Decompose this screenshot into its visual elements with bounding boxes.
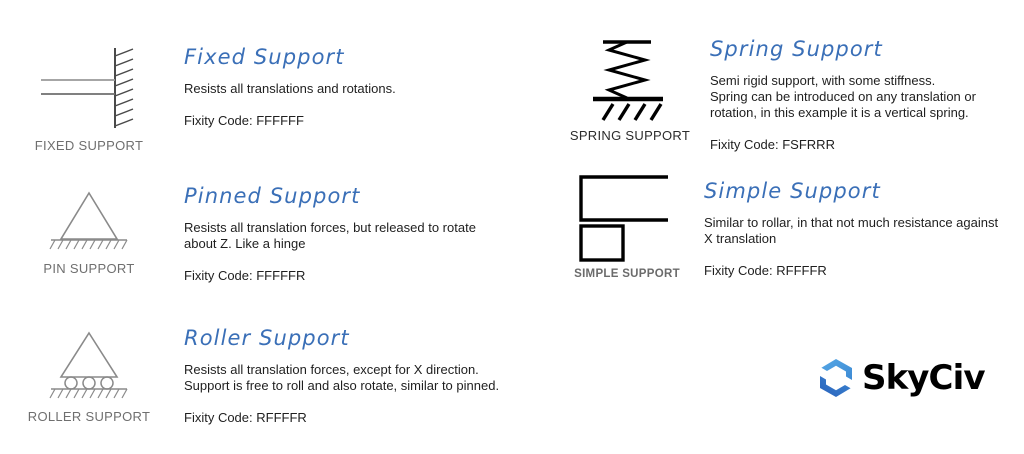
pin-support-symbol-column: PIN SUPPORT xyxy=(14,185,164,276)
fixed-support-symbol xyxy=(29,42,149,134)
simple-support-fixity-code: Fixity Code: RFFFFR xyxy=(704,263,1020,279)
support-card-fixed: FIXED SUPPORT Fixed Support Resists all … xyxy=(14,42,514,153)
simple-support-text-column: Simple Support Similar to rollar, in tha… xyxy=(704,180,1020,279)
roller-support-title: Roller Support xyxy=(184,327,514,350)
pin-support-fixity-code: Fixity Code: FFFFFR xyxy=(184,268,514,284)
spring-support-symbol-column: SPRING SUPPORT xyxy=(566,34,694,143)
simple-support-symbol-column: SIMPLE SUPPORT xyxy=(560,172,694,280)
simple-support-symbol xyxy=(568,172,686,264)
roller-support-caption: ROLLER SUPPORT xyxy=(28,409,150,424)
pin-support-symbol xyxy=(29,185,149,257)
simple-support-description: Similar to rollar, in that not much resi… xyxy=(704,215,1020,247)
spring-support-fixity-code: Fixity Code: FSFRRR xyxy=(710,137,1016,153)
fixed-support-fixity-code: Fixity Code: FFFFFF xyxy=(184,113,514,129)
simple-support-title: Simple Support xyxy=(704,180,1020,203)
spring-support-symbol xyxy=(575,34,685,124)
fixed-support-caption: FIXED SUPPORT xyxy=(35,138,143,153)
roller-support-fixity-code: Fixity Code: RFFFFR xyxy=(184,410,514,426)
support-card-pinned: PIN SUPPORT Pinned Support Resists all t… xyxy=(14,185,514,284)
pin-support-caption: PIN SUPPORT xyxy=(43,261,134,276)
fixed-support-symbol-column: FIXED SUPPORT xyxy=(14,42,164,153)
pin-support-description: Resists all translation forces, but rele… xyxy=(184,220,514,252)
spring-support-caption: SPRING SUPPORT xyxy=(570,128,690,143)
pin-support-text-column: Pinned Support Resists all translation f… xyxy=(184,185,514,284)
roller-support-symbol xyxy=(29,327,149,405)
skyciv-hexagon-logo-icon xyxy=(816,356,856,400)
spring-support-description: Semi rigid support, with some stiffness.… xyxy=(710,73,1016,121)
roller-support-text-column: Roller Support Resists all translation f… xyxy=(184,327,514,426)
support-card-roller: ROLLER SUPPORT Roller Support Resists al… xyxy=(14,327,514,426)
skyciv-wordmark: SkyCiv xyxy=(862,361,985,395)
spring-support-text-column: Spring Support Semi rigid support, with … xyxy=(710,38,1016,153)
roller-support-description: Resists all translation forces, except f… xyxy=(184,362,514,394)
fixed-support-title: Fixed Support xyxy=(184,46,514,69)
fixed-support-text-column: Fixed Support Resists all translations a… xyxy=(184,46,514,129)
simple-support-caption: SIMPLE SUPPORT xyxy=(574,268,680,280)
support-card-simple: SIMPLE SUPPORT Simple Support Similar to… xyxy=(560,172,1020,280)
roller-support-symbol-column: ROLLER SUPPORT xyxy=(14,327,164,424)
fixed-support-description: Resists all translations and rotations. xyxy=(184,81,514,97)
pin-support-title: Pinned Support xyxy=(184,185,514,208)
support-card-spring: SPRING SUPPORT Spring Support Semi rigid… xyxy=(566,34,1016,153)
skyciv-logo: SkyCiv xyxy=(816,356,985,400)
spring-support-title: Spring Support xyxy=(710,38,1016,61)
